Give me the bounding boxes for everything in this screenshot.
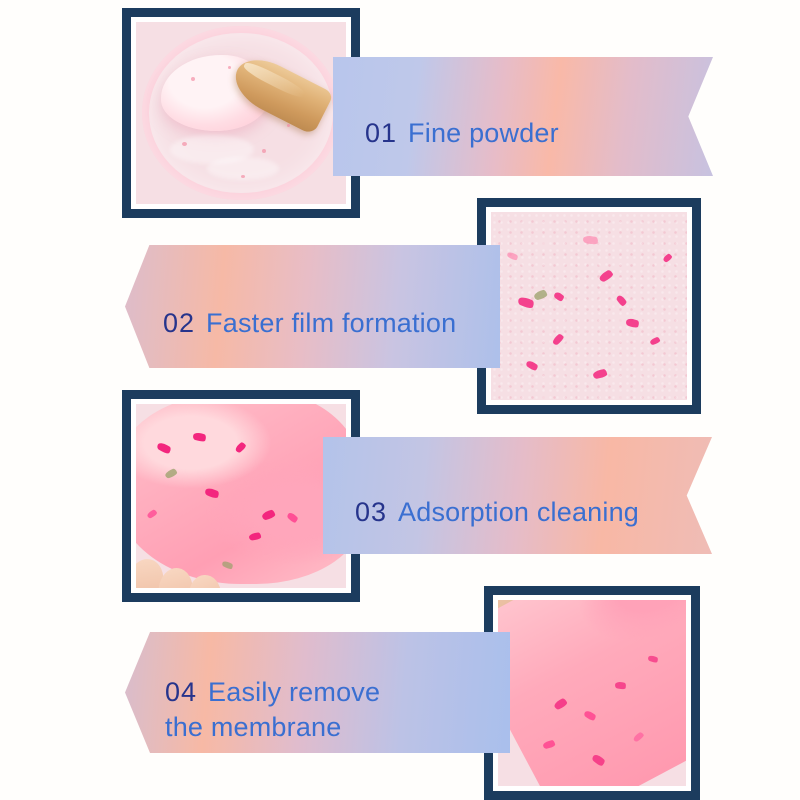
step-03-banner: 03Adsorption cleaning — [323, 437, 712, 554]
step-04-title: Easily remove the membrane — [165, 677, 380, 742]
powder-fleck — [262, 149, 266, 153]
mask-sheet — [136, 404, 346, 584]
step-04-banner: 04Easily remove the membrane — [125, 632, 510, 753]
step-01-title: Fine powder — [408, 118, 559, 148]
powder-fleck — [241, 175, 245, 178]
powder-fleck — [287, 124, 290, 127]
step-02-title: Faster film formation — [206, 308, 456, 338]
pink-powder-paste-in-bowl-photo — [136, 22, 346, 204]
step-02-label: 02Faster film formation — [163, 274, 456, 340]
infographic-canvas: 01Fine powder 02Faster film formation — [0, 0, 800, 800]
mask-peeling-off-skin-photo — [498, 600, 686, 786]
step-03-title: Adsorption cleaning — [398, 497, 639, 527]
step-04-number: 04 — [165, 677, 197, 707]
step-02-photo-frame — [477, 198, 701, 414]
step-04-photo-frame — [484, 586, 700, 800]
step-02-banner: 02Faster film formation — [125, 245, 500, 368]
peeled-mask-sheet-in-hand-photo — [136, 404, 346, 588]
step-02-number: 02 — [163, 308, 195, 338]
step-01-banner: 01Fine powder — [333, 57, 713, 176]
step-01-label: 01Fine powder — [365, 84, 559, 150]
step-01-number: 01 — [365, 118, 397, 148]
step-03-label: 03Adsorption cleaning — [355, 463, 639, 529]
step-01-photo-frame — [122, 8, 360, 218]
pink-petal-mask-texture-photo — [491, 212, 687, 400]
step-03-number: 03 — [355, 497, 387, 527]
step-04-label: 04Easily remove the membrane — [165, 640, 380, 745]
powder-fleck — [191, 77, 195, 81]
